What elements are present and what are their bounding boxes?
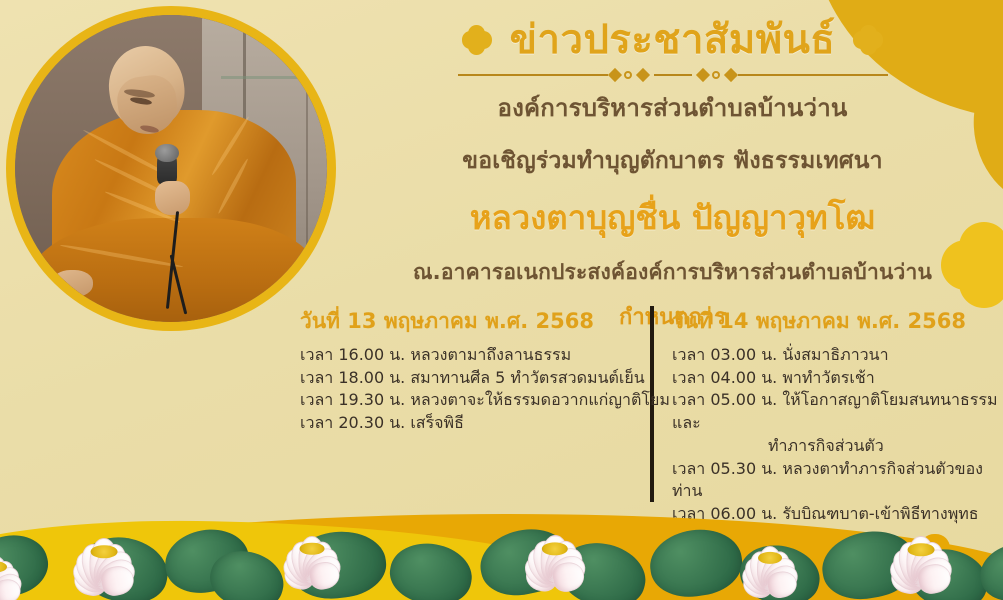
lotus-flower-icon [260,514,364,588]
quatrefoil-ornament-right-icon [853,25,883,55]
lotus-flower-icon [720,524,820,596]
monk-portrait-photo [6,6,336,331]
schedule-event: เวลา 04.00 น. พาทำวัตรเช้า [672,367,1000,390]
schedule-event-main: เวลา 03.00 น. นั่งสมาธิภาวนา [672,345,889,364]
lotus-flower-icon [500,512,610,590]
day1-heading: วันที่ 13 พฤษภาคม พ.ศ. 2568 [300,305,636,338]
announcement-poster: ข่าวประชาสัมพันธ์ องค์การบริหารส่วนตำบลบ… [0,0,1003,600]
lotus-flower-icon [865,512,977,592]
schedule-event: เวลา 20.30 น. เสร็จพิธี [300,412,636,435]
lotus-flower-band [0,490,1003,600]
schedule-event: เวลา 05.00 น. ให้โอกาสญาติโยมสนทนาธรรมแล… [672,389,1000,457]
schedule-event: เวลา 16.00 น. หลวงตามาถึงลานธรรม [300,344,636,367]
lotus-flower-icon [0,536,42,600]
venue-text: ณ.อาคารอเนกประสงค์องค์การบริหารส่วนตำบลบ… [350,256,995,289]
schedule-event: เวลา 19.30 น. หลวงตาจะให้ธรรมดอวากแก่ญาต… [300,389,636,412]
day1-event-list: เวลา 16.00 น. หลวงตามาถึงลานธรรมเวลา 18.… [300,344,636,435]
ornamental-divider [458,68,888,82]
monk-name: หลวงตาบุญชื่น ปัญญาวุทโฒ [350,191,995,244]
schedule-event-continuation: ทำภารกิจส่วนตัว [672,435,1000,458]
lotus-flower-icon [48,514,160,594]
quatrefoil-ornament-left-icon [462,25,492,55]
invitation-text: ขอเชิญร่วมทำบุญตักบาตร ฟังธรรมเทศนา [350,143,995,179]
schedule-event: เวลา 03.00 น. นั่งสมาธิภาวนา [672,344,1000,367]
page-title: ข่าวประชาสัมพันธ์ [510,18,836,62]
schedule-event-main: เวลา 04.00 น. พาทำวัตรเช้า [672,368,875,387]
organization-name: องค์การบริหารส่วนตำบลบ้านว่าน [350,88,995,127]
day2-heading: วันที่ 14 พฤษภาคม พ.ศ. 2568 [672,305,1000,338]
schedule-event-main: เวลา 05.00 น. ให้โอกาสญาติโยมสนทนาธรรมแล… [672,390,998,432]
schedule-event: เวลา 18.00 น. สมาทานศีล 5 ทำวัตรสวดมนต์เ… [300,367,636,390]
poster-header: ข่าวประชาสัมพันธ์ องค์การบริหารส่วนตำบลบ… [350,18,995,334]
